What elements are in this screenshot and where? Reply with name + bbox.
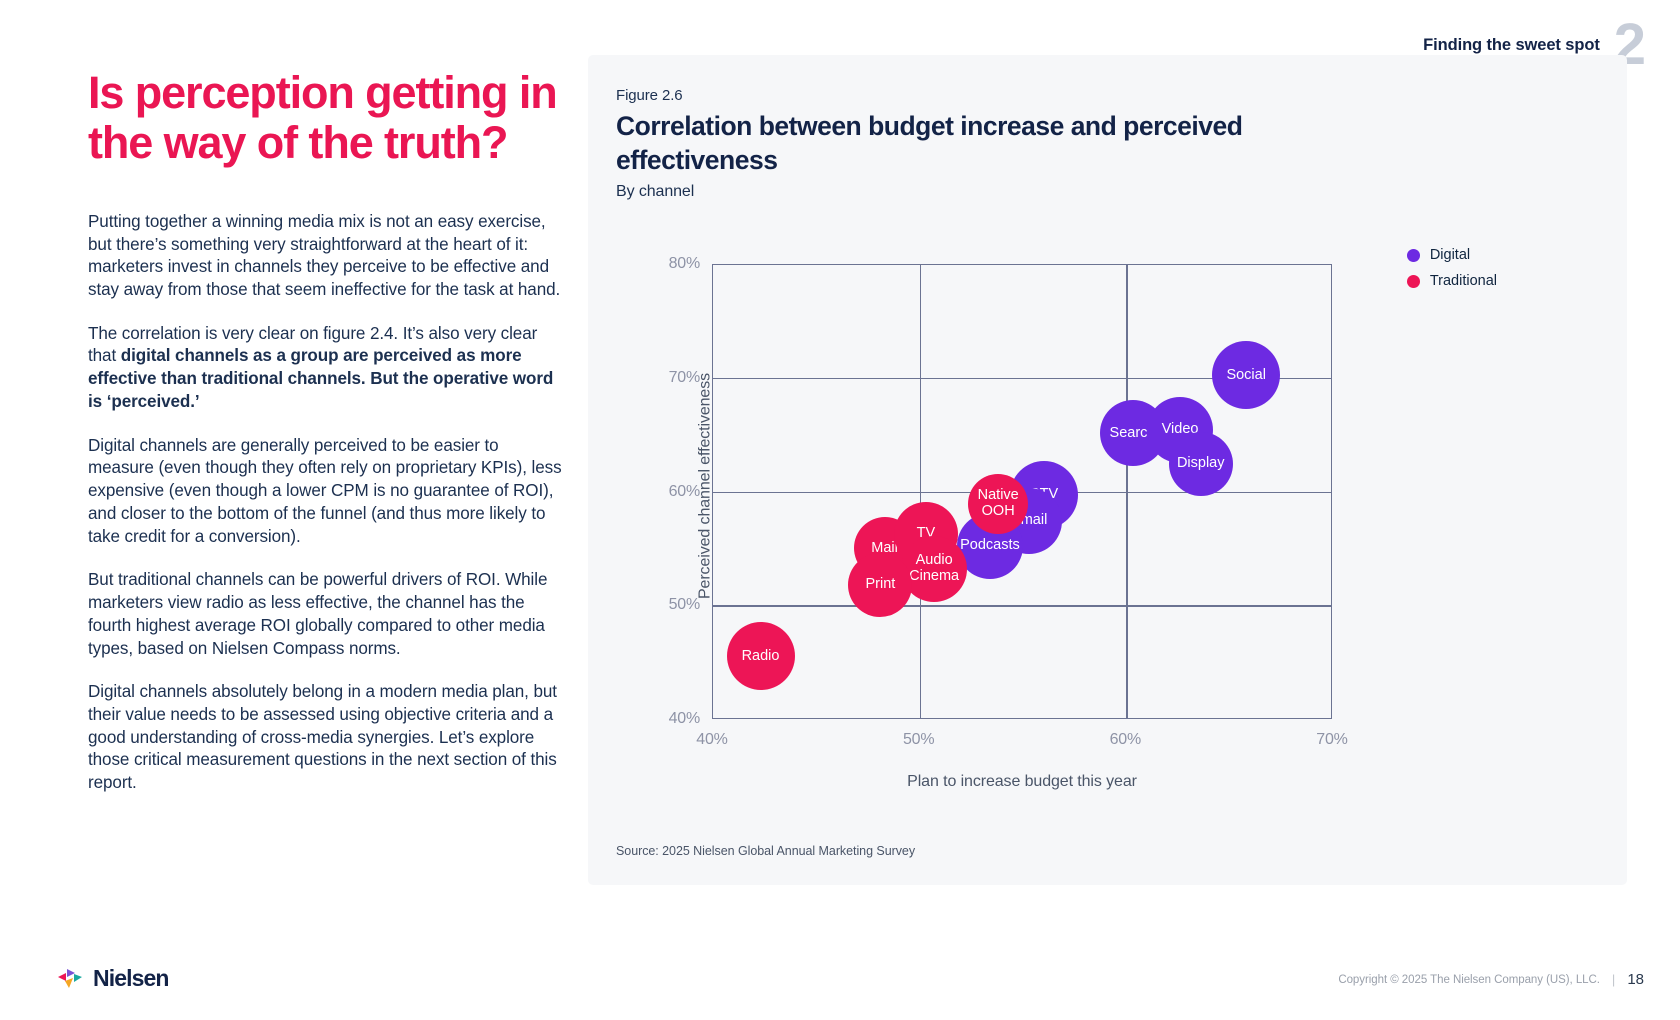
chart-card: Figure 2.6 Correlation between budget in… (588, 55, 1627, 885)
bubble-social[interactable]: Social (1212, 341, 1280, 409)
page-number: 18 (1627, 971, 1644, 988)
y-axis-label-holder: Perceived channel effectiveness (626, 264, 652, 719)
figure-source: Source: 2025 Nielsen Global Annual Marke… (616, 844, 915, 858)
bubble-radio[interactable]: Radio (727, 622, 795, 690)
paragraph-2: The correlation is very clear on figure … (88, 323, 568, 414)
section-title: Finding the sweet spot (1423, 22, 1600, 55)
page-title: Is perception getting in the way of the … (88, 68, 568, 169)
x-axis-label: Plan to increase budget this year (712, 773, 1332, 791)
left-column: Is perception getting in the way of the … (88, 68, 568, 795)
footer-right: Copyright © 2025 The Nielsen Company (US… (1338, 971, 1644, 988)
copyright-text: Copyright © 2025 The Nielsen Company (US… (1338, 974, 1600, 986)
paragraph-3: Digital channels are generally perceived… (88, 435, 568, 549)
gridline-horizontal (713, 605, 1332, 606)
paragraph-1: Putting together a winning media mix is … (88, 211, 568, 302)
x-tick-label: 50% (903, 731, 934, 749)
bubble-native-ooh[interactable]: Native OOH (968, 474, 1028, 534)
paragraph-2-emphasis: digital channels as a group are perceive… (88, 346, 553, 410)
paragraph-4: But traditional channels can be powerful… (88, 569, 568, 660)
bubble-print[interactable]: Print (848, 553, 912, 617)
body-copy: Putting together a winning media mix is … (88, 211, 568, 795)
x-tick-label: 40% (696, 731, 727, 749)
plot-area: SocialSearchVideoDisplayCTVEmailPodcasts… (712, 264, 1332, 719)
bubble-display[interactable]: Display (1169, 432, 1233, 496)
x-tick-label: 70% (1316, 731, 1347, 749)
x-tick-label: 60% (1110, 731, 1141, 749)
nielsen-logo-icon (58, 969, 84, 989)
plot-wrapper: 40%50%60%70%80% Perceived channel effect… (588, 55, 1627, 885)
footer-separator: | (1612, 972, 1615, 987)
report-page: Finding the sweet spot 2 Is perception g… (0, 0, 1680, 1020)
paragraph-5: Digital channels absolutely belong in a … (88, 681, 568, 795)
nielsen-wordmark: Nielsen (93, 965, 169, 992)
nielsen-logo: Nielsen (58, 965, 169, 992)
